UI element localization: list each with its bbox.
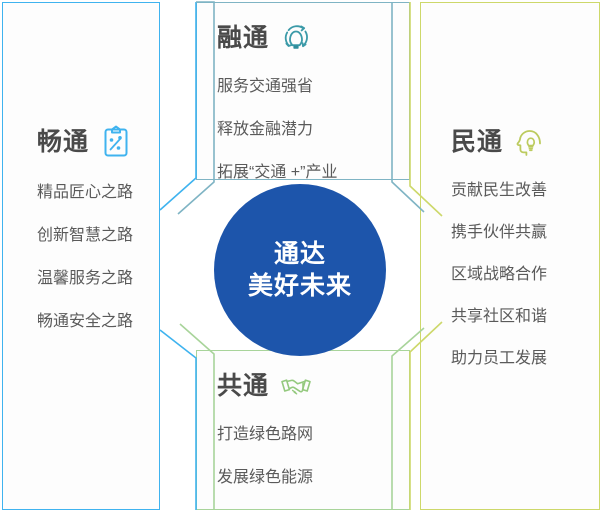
list-item: 区域战略合作 [451, 267, 547, 283]
panel-mintong-header: 民通 [451, 125, 547, 159]
panel-mintong: 民通 贡献民生改善 携手伙伴共赢 区域战略合作 共享社区和谐 助力员工发展 [420, 2, 600, 510]
list-item: 创新智慧之路 [37, 228, 133, 244]
panel-changtong-content: 畅通 精品匠心之路 创新智慧之路 温馨服务之路 畅通安全之路 [37, 125, 133, 357]
panel-changtong: 畅通 精品匠心之路 创新智慧之路 温馨服务之路 畅通安全之路 [2, 2, 160, 510]
list-item: 打造绿色路网 [217, 427, 313, 443]
panel-rongtong: 融通 服务交通强省 释放金融潜力 拓展“交通 +”产业 [196, 2, 410, 180]
list-item: 贡献民生改善 [451, 183, 547, 199]
list-item: 携手伙伴共赢 [451, 225, 547, 241]
panel-mintong-title: 民通 [451, 130, 503, 155]
list-item: 发展绿色能源 [217, 470, 313, 486]
panel-gongtong: 共通 打造绿色路网 发展绿色能源 [196, 350, 410, 510]
center-circle: 通达 美好未来 [214, 184, 386, 356]
clipboard-chart-icon [99, 125, 133, 159]
panel-gongtong-header: 共通 [217, 369, 313, 403]
panel-changtong-title: 畅通 [37, 130, 89, 155]
list-item: 精品匠心之路 [37, 185, 133, 201]
panel-rongtong-title: 融通 [217, 26, 269, 51]
list-item: 共享社区和谐 [451, 309, 547, 325]
connector-left-top [160, 2, 196, 210]
center-title-line2: 美好未来 [248, 270, 352, 302]
connector-left-bottom [160, 330, 196, 510]
list-item: 拓展“交通 +”产业 [217, 165, 337, 181]
handshake-icon [279, 369, 313, 403]
list-item: 助力员工发展 [451, 351, 547, 367]
center-title-line1: 通达 [274, 238, 326, 270]
panel-gongtong-content: 共通 打造绿色路网 发展绿色能源 [217, 369, 313, 513]
head-lightbulb-icon [513, 125, 547, 159]
panel-changtong-header: 畅通 [37, 125, 133, 159]
list-item: 服务交通强省 [217, 79, 337, 95]
panel-gongtong-title: 共通 [217, 374, 269, 399]
panel-rongtong-content: 融通 服务交通强省 释放金融潜力 拓展“交通 +”产业 [217, 21, 337, 208]
panel-rongtong-header: 融通 [217, 21, 337, 55]
infographic-canvas: 畅通 精品匠心之路 创新智慧之路 温馨服务之路 畅通安全之路 [0, 0, 602, 512]
list-item: 释放金融潜力 [217, 122, 337, 138]
panel-mintong-content: 民通 贡献民生改善 携手伙伴共赢 区域战略合作 共享社区和谐 助力员工发展 [451, 125, 547, 393]
list-item: 畅通安全之路 [37, 314, 133, 330]
lightbulb-recycle-icon [279, 21, 313, 55]
list-item: 温馨服务之路 [37, 271, 133, 287]
